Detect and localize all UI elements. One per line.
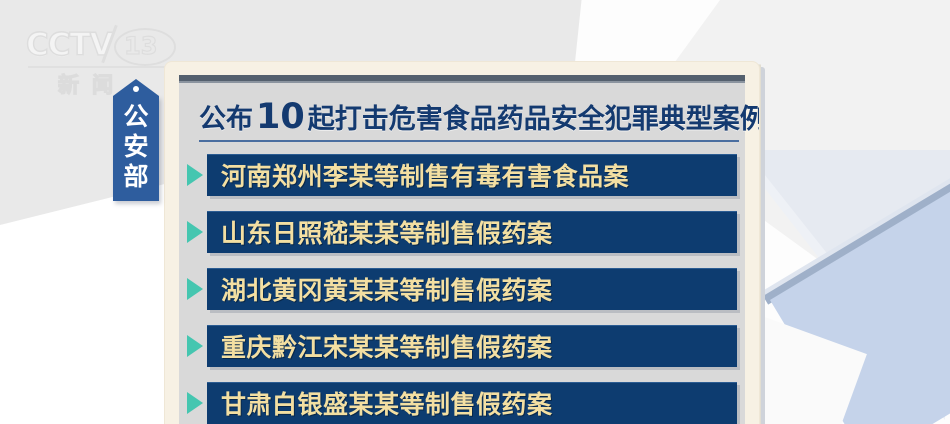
case-label: 重庆黔江宋某某等制售假药案 <box>207 328 553 364</box>
case-label: 湖北黄冈黄某某等制售假药案 <box>207 271 553 307</box>
agency-ribbon: 公 安 部 <box>113 79 159 201</box>
title-prefix: 公布 <box>199 97 253 136</box>
triangle-right-icon <box>187 278 203 300</box>
case-label: 甘肃白银盛某某等制售假药案 <box>207 385 553 421</box>
list-item[interactable]: 山东日照嵇某某等制售假药案 <box>187 211 737 252</box>
triangle-right-icon <box>187 335 203 357</box>
title-underline <box>199 140 739 142</box>
title-count: 10 <box>253 97 308 137</box>
list-item[interactable]: 湖北黄冈黄某某等制售假药案 <box>187 268 737 309</box>
list-item[interactable]: 甘肃白银盛某某等制售假药案 <box>187 382 737 423</box>
ribbon-body: 公 安 部 <box>113 96 159 201</box>
title-suffix: 起打击危害食品药品安全犯罪典型案例 <box>308 97 759 136</box>
list-item[interactable]: 重庆黔江宋某某等制售假药案 <box>187 325 737 366</box>
case-bar[interactable]: 山东日照嵇某某等制售假药案 <box>207 211 737 253</box>
case-bar[interactable]: 河南郑州李某等制售有毒有害食品案 <box>207 154 737 196</box>
case-label: 山东日照嵇某某等制售假药案 <box>207 214 553 250</box>
news-graphic-stage: CCTV 13 新闻 公布 10 起打击危害食品药品安全犯罪典型案例 河南郑州李… <box>0 0 950 424</box>
case-bar[interactable]: 湖北黄冈黄某某等制售假药案 <box>207 268 737 310</box>
page-title: 公布 10 起打击危害食品药品安全犯罪典型案例 <box>199 95 737 137</box>
case-bar[interactable]: 甘肃白银盛某某等制售假药案 <box>207 382 737 424</box>
info-card: 公布 10 起打击危害食品药品安全犯罪典型案例 河南郑州李某等制售有毒有害食品案… <box>165 62 759 424</box>
triangle-right-icon <box>187 392 203 414</box>
ribbon-dot-icon <box>133 86 139 92</box>
triangle-right-icon <box>187 221 203 243</box>
case-bar[interactable]: 重庆黔江宋某某等制售假药案 <box>207 325 737 367</box>
ribbon-char: 部 <box>113 162 159 192</box>
ribbon-char: 公 <box>113 102 159 132</box>
case-list: 河南郑州李某等制售有毒有害食品案 山东日照嵇某某等制售假药案 湖北黄冈黄某某等制… <box>187 154 737 424</box>
list-item[interactable]: 河南郑州李某等制售有毒有害食品案 <box>187 154 737 195</box>
ribbon-cap <box>113 79 159 96</box>
triangle-right-icon <box>187 164 203 186</box>
card-top-bar-highlight <box>179 81 745 83</box>
ribbon-char: 安 <box>113 132 159 162</box>
case-label: 河南郑州李某等制售有毒有害食品案 <box>207 157 629 193</box>
